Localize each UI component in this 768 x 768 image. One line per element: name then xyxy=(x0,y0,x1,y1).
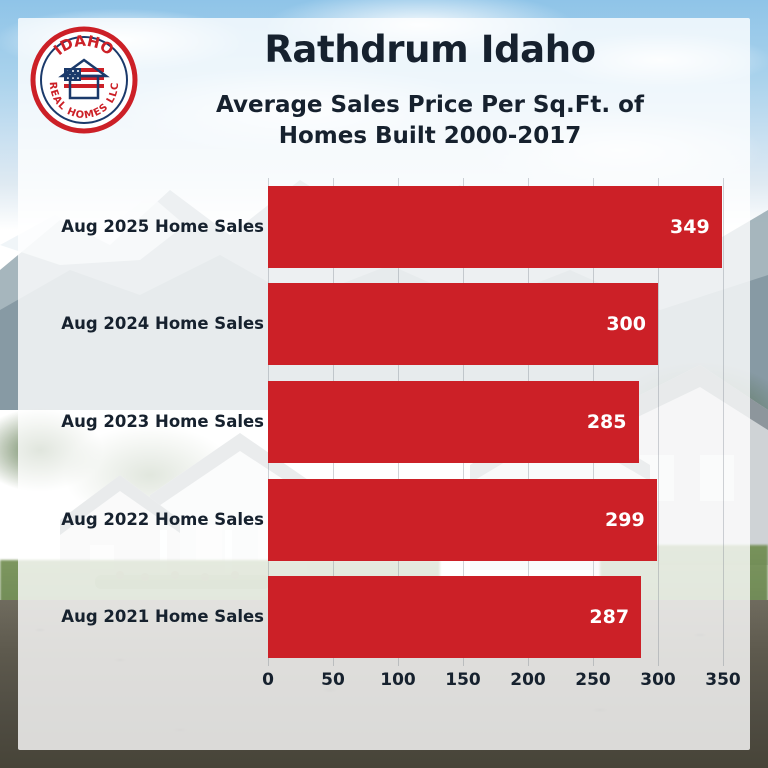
x-axis-tick-label: 100 xyxy=(380,670,416,690)
bar-value-label: 299 xyxy=(605,509,657,531)
subtitle-line-2: Homes Built 2000-2017 xyxy=(150,121,710,152)
category-labels: Aug 2025 Home SalesAug 2024 Home SalesAu… xyxy=(32,170,264,660)
category-label: Aug 2023 Home Sales xyxy=(32,412,264,431)
x-axis-tick-label: 350 xyxy=(705,670,741,690)
category-label: Aug 2024 Home Sales xyxy=(32,314,264,333)
bar-value-label: 287 xyxy=(589,606,641,628)
bar: 299 xyxy=(268,479,657,561)
bar-value-label: 285 xyxy=(587,411,639,433)
x-axis: 050100150200250300350 xyxy=(268,670,723,698)
x-axis-tick-label: 250 xyxy=(575,670,611,690)
plot-area: 349300285299287 xyxy=(268,178,723,666)
bar: 349 xyxy=(268,186,722,268)
bar-chart: Aug 2025 Home SalesAug 2024 Home SalesAu… xyxy=(0,170,768,700)
page-title: Rathdrum Idaho xyxy=(150,28,710,71)
logo-shape: IDAHO REAL HOMES LLC xyxy=(30,26,138,134)
category-label: Aug 2025 Home Sales xyxy=(32,217,264,236)
subtitle-line-1: Average Sales Price Per Sq.Ft. of xyxy=(150,90,710,121)
x-axis-tick-label: 0 xyxy=(262,670,274,690)
idaho-real-homes-llc-logo: IDAHO REAL HOMES LLC xyxy=(30,26,138,134)
category-label: Aug 2022 Home Sales xyxy=(32,510,264,529)
x-axis-tick-label: 150 xyxy=(445,670,481,690)
bar-value-label: 300 xyxy=(606,313,658,335)
x-axis-tick-label: 200 xyxy=(510,670,546,690)
category-label: Aug 2021 Home Sales xyxy=(32,607,264,626)
x-axis-tick-label: 50 xyxy=(321,670,345,690)
x-axis-tick-label: 300 xyxy=(640,670,676,690)
gridline xyxy=(723,178,724,666)
bar: 285 xyxy=(268,381,639,463)
page-subtitle: Average Sales Price Per Sq.Ft. of Homes … xyxy=(150,90,710,152)
bar-value-label: 349 xyxy=(670,216,722,238)
bar: 300 xyxy=(268,283,658,365)
bar: 287 xyxy=(268,576,641,658)
